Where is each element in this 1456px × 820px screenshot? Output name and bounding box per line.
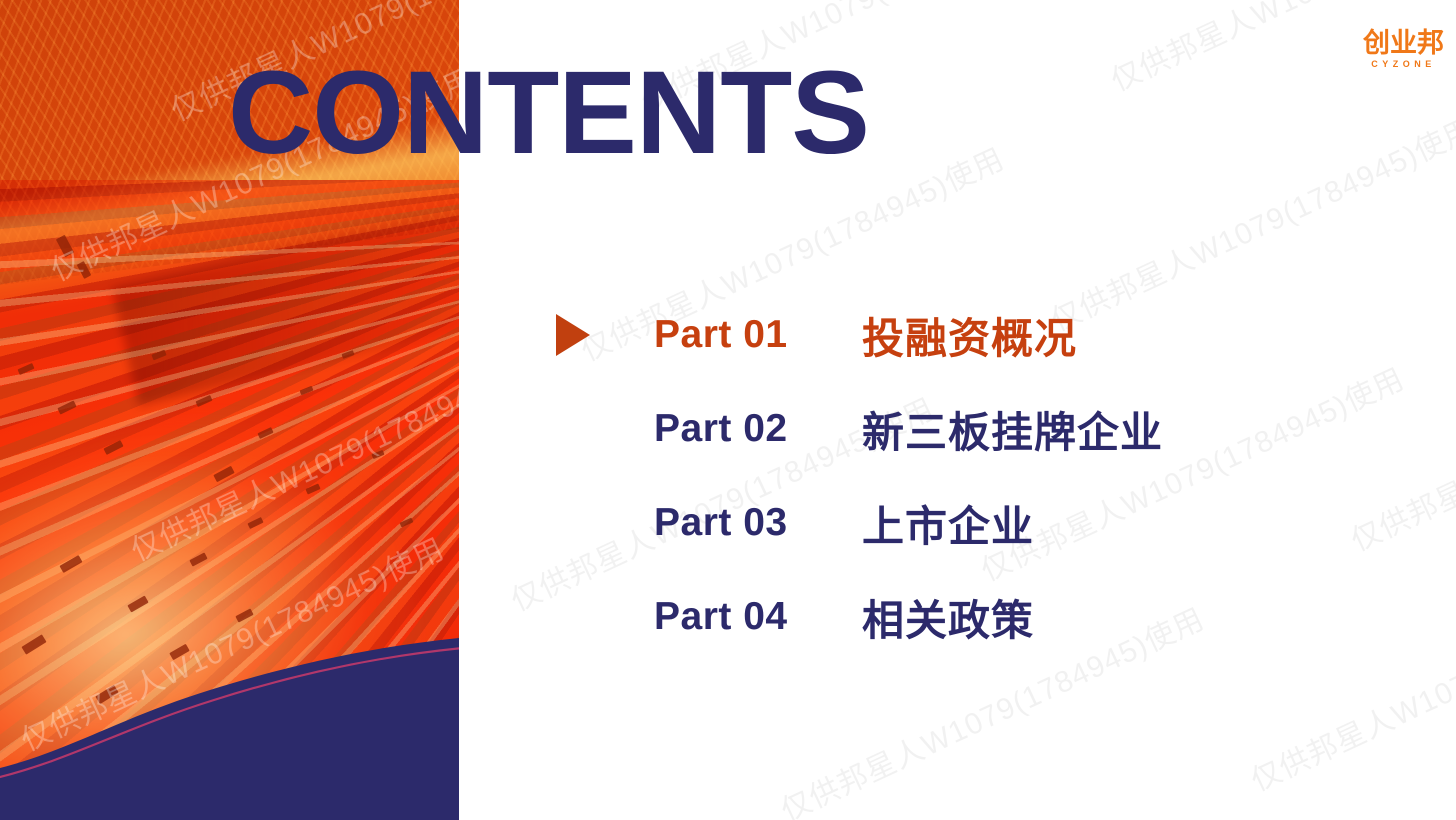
- brand-logo: 创业邦 CYZONE: [1363, 30, 1444, 69]
- part-label: Part 01: [654, 313, 830, 357]
- logo-name-cn: 创业邦: [1363, 30, 1444, 57]
- part-title: 上市企业: [862, 493, 1034, 554]
- part-label: Part 03: [654, 501, 830, 545]
- part-label: Part 04: [654, 595, 830, 639]
- list-item[interactable]: Part 03 上市企业: [556, 476, 1163, 570]
- part-title: 相关政策: [862, 587, 1034, 648]
- slide-canvas: 仅供邦星人W1079(1784945)使用 仅供邦星人W1079(1784945…: [0, 0, 1456, 820]
- list-item[interactable]: Part 02 新三板挂牌企业: [556, 382, 1163, 476]
- part-label: Part 02: [654, 407, 830, 451]
- logo-name-en: CYZONE: [1363, 60, 1444, 69]
- list-item[interactable]: Part 01 投融资概况: [556, 288, 1163, 382]
- part-title: 投融资概况: [862, 305, 1077, 366]
- list-item[interactable]: Part 04 相关政策: [556, 570, 1163, 664]
- active-marker-cell: [556, 314, 654, 356]
- contents-list: Part 01 投融资概况 Part 02 新三板挂牌企业 Part 03 上市…: [556, 288, 1163, 664]
- watermark-text: 仅供邦星人W1079(1784945)使用: [1342, 324, 1456, 559]
- watermark-text: 仅供邦星人W1079(1784945)使用: [1242, 564, 1456, 799]
- page-title: CONTENTS: [228, 54, 869, 172]
- play-triangle-icon: [556, 314, 590, 356]
- part-title: 新三板挂牌企业: [862, 399, 1163, 460]
- navy-wave-shape: [0, 600, 459, 820]
